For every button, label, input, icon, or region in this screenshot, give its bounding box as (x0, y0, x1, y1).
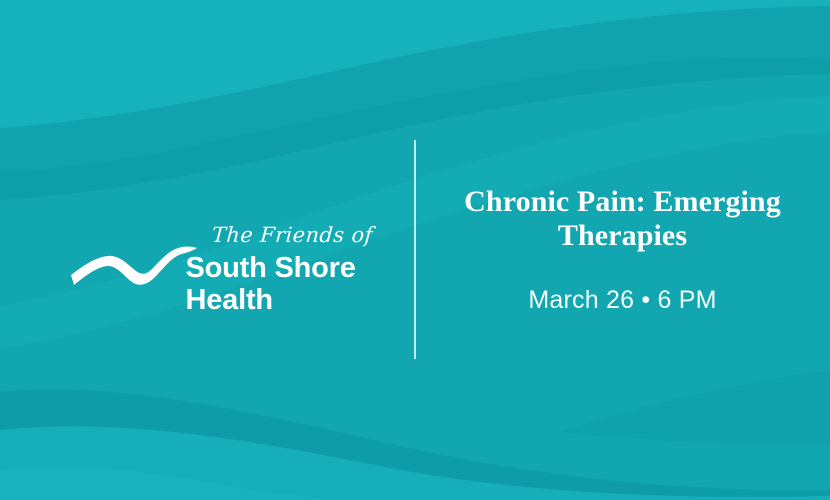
wave-swoosh-icon (70, 235, 198, 291)
logo-name-line-2: Health (186, 283, 273, 317)
logo-name-line-1: South Shore (186, 251, 356, 285)
logo-script-text: The Friends of (211, 223, 374, 247)
event-title: Chronic Pain: Emerging Therapies (453, 185, 793, 253)
organization-logo: The Friends of South Shore Health (70, 221, 350, 331)
event-date: March 26 • 6 PM (528, 285, 716, 315)
event-pane: Chronic Pain: Emerging Therapies March 2… (415, 0, 830, 500)
banner-content: The Friends of South Shore Health Chroni… (0, 0, 830, 500)
logo-pane: The Friends of South Shore Health (0, 0, 415, 500)
event-banner: The Friends of South Shore Health Chroni… (0, 0, 830, 500)
